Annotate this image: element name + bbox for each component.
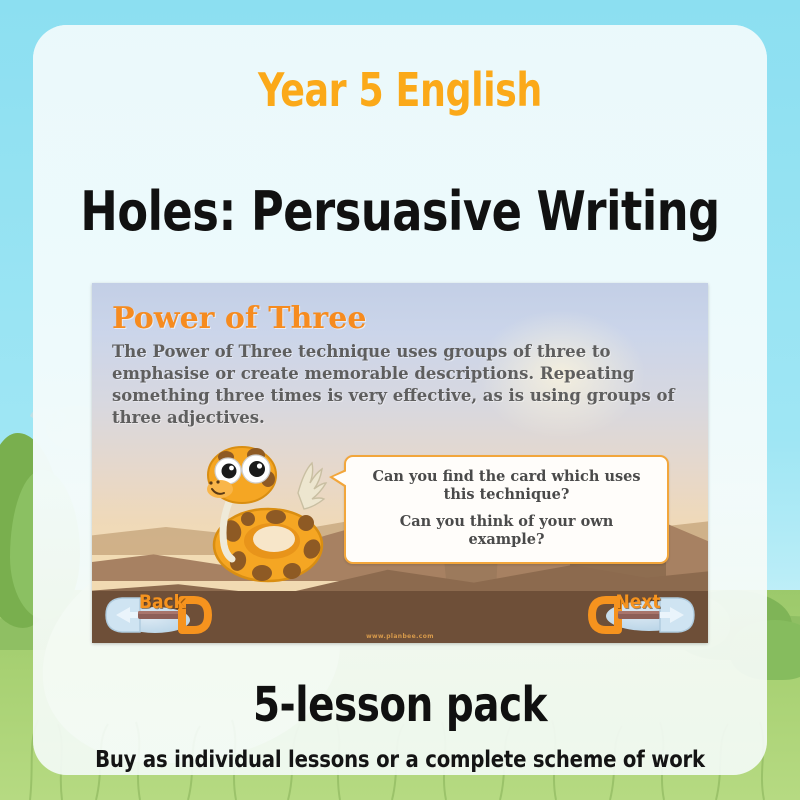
back-button-label: Back	[139, 591, 185, 613]
slide-preview[interactable]: Power of Three The Power of Three techni…	[92, 283, 708, 643]
slide-heading: Power of Three	[112, 301, 366, 336]
speech-bubble-tail	[329, 469, 346, 488]
bubble-question-2: Can you think of your own example?	[360, 513, 653, 549]
product-card: Year 5 English Holes: Persuasive Writing…	[33, 25, 767, 775]
bubble-question-1: Can you find the card which uses this te…	[360, 468, 653, 504]
back-button[interactable]: Back	[102, 591, 222, 639]
page-canvas: Year 5 English Holes: Persuasive Writing…	[0, 0, 800, 800]
next-button-label: Next	[615, 591, 660, 613]
rattlesnake-icon	[180, 431, 348, 599]
page-title: Holes: Persuasive Writing	[62, 180, 737, 243]
lesson-pack-label: 5-lesson pack	[70, 677, 731, 733]
slide-body-text: The Power of Three technique uses groups…	[112, 341, 692, 429]
subject-heading: Year 5 English	[77, 63, 723, 117]
purchase-note: Buy as individual lessons or a complete …	[51, 747, 748, 773]
next-button[interactable]: Next	[578, 591, 698, 639]
slide-watermark: www.planbee.com	[366, 633, 434, 640]
speech-bubble: Can you find the card which uses this te…	[344, 455, 669, 564]
